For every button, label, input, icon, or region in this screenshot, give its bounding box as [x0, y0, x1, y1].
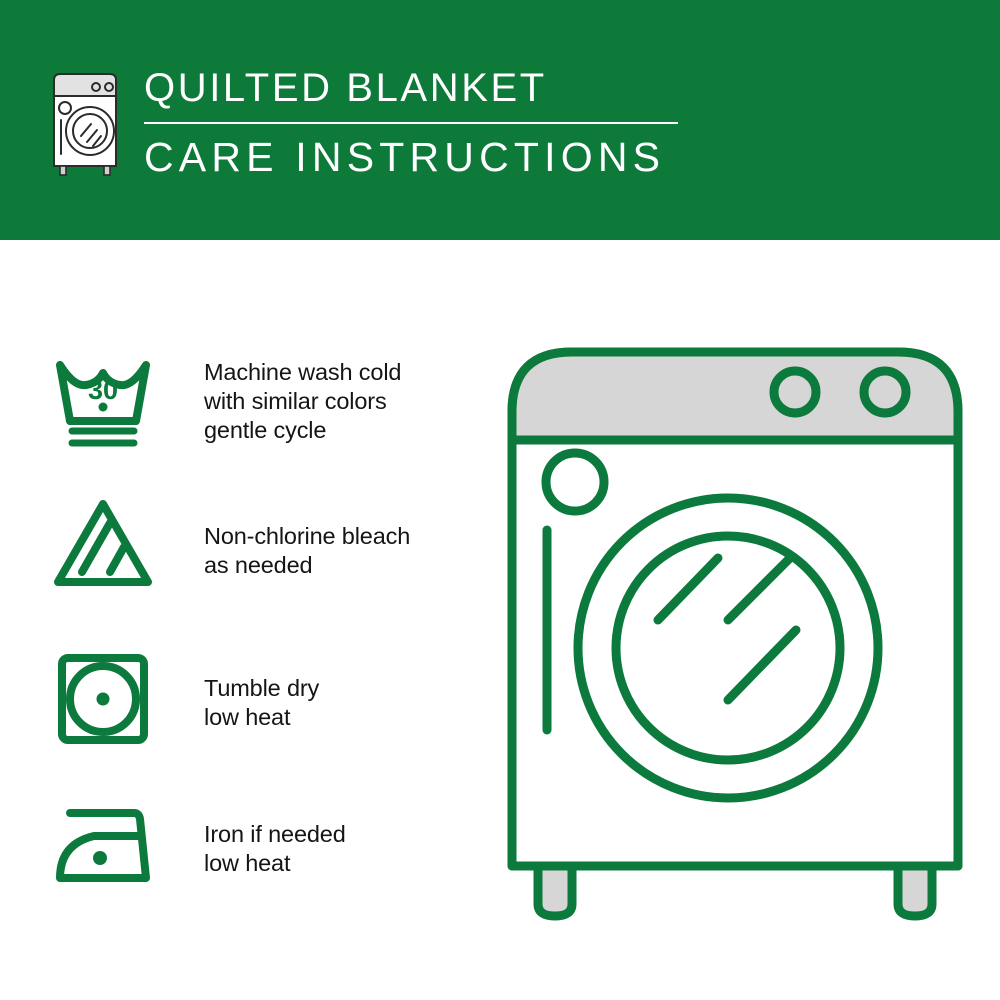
machine-control-panel [512, 352, 958, 440]
wash-tub-30-icon: 30 [48, 343, 158, 453]
header-title-block: QUILTED BLANKET CARE INSTRUCTIONS [144, 64, 704, 184]
page-title-secondary: CARE INSTRUCTIONS [144, 133, 704, 181]
care-row-iron: Iron if needed low heat [48, 790, 468, 900]
care-row-machine-wash: 30 Machine wash cold with similar colors… [48, 343, 468, 453]
washing-machine-illustration [490, 330, 980, 930]
tumble-dry-low-icon [48, 644, 158, 754]
header-banner: QUILTED BLANKET CARE INSTRUCTIONS [0, 0, 1000, 240]
title-divider [144, 122, 678, 124]
care-text-machine-wash: Machine wash cold with similar colors ge… [204, 358, 401, 445]
iron-low-heat-icon [48, 790, 158, 900]
machine-leg-left [538, 866, 572, 916]
header-washing-machine-icon [44, 68, 126, 180]
care-row-tumble-dry: Tumble dry low heat [48, 644, 468, 754]
bleach-triangle-icon [48, 490, 158, 600]
machine-leg-right [898, 866, 932, 916]
wash-temp-label: 30 [88, 375, 118, 405]
care-instruction-list: 30 Machine wash cold with similar colors… [0, 240, 470, 1000]
care-text-iron: Iron if needed low heat [204, 820, 346, 878]
care-text-tumble-dry: Tumble dry low heat [204, 674, 319, 732]
care-text-bleach: Non-chlorine bleach as needed [204, 522, 410, 580]
page-title-primary: QUILTED BLANKET [144, 64, 704, 112]
care-row-bleach: Non-chlorine bleach as needed [48, 490, 468, 600]
care-instructions-page: QUILTED BLANKET CARE INSTRUCTIONS 30 [0, 0, 1000, 1000]
